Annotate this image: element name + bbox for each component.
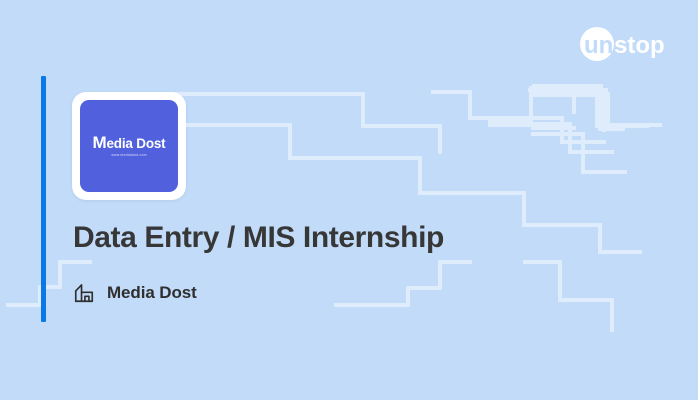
left-accent-bar bbox=[41, 76, 46, 322]
company-logo-wordmark-initial: M bbox=[93, 133, 107, 152]
job-banner: un stop Media Dost www.mediadost.com Dat… bbox=[0, 0, 698, 400]
building-icon bbox=[73, 282, 95, 304]
page-title: Data Entry / MIS Internship bbox=[73, 220, 444, 256]
company-logo-url: www.mediadost.com bbox=[111, 154, 146, 157]
company-logo-tile: Media Dost www.mediadost.com bbox=[80, 100, 178, 192]
unstop-mark-text: un bbox=[584, 32, 613, 59]
unstop-logo[interactable]: un stop bbox=[580, 27, 676, 61]
unstop-word-text: stop bbox=[614, 32, 665, 59]
company-logo-wordmark: Media Dost bbox=[93, 134, 166, 151]
company-row[interactable]: Media Dost bbox=[73, 282, 197, 304]
company-logo-wordmark-rest: edia Dost bbox=[107, 136, 166, 151]
company-logo-card: Media Dost www.mediadost.com bbox=[72, 92, 186, 200]
company-name: Media Dost bbox=[107, 283, 197, 303]
